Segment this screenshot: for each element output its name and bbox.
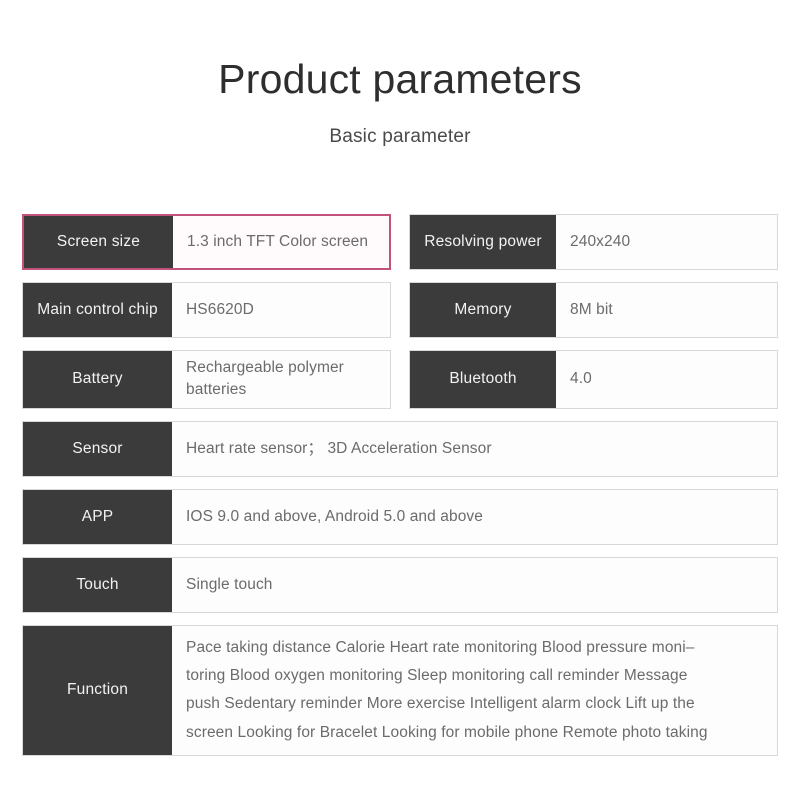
spec-cell-bluetooth: Bluetooth 4.0	[409, 350, 778, 409]
spec-value-line: Heart rate sensor； 3D Acceleration Senso…	[186, 438, 777, 460]
spec-value: 8M bit	[556, 283, 777, 337]
table-row: Main control chip HS6620D Memory 8M bit	[22, 282, 778, 338]
spec-value-line: 4.0	[570, 368, 777, 390]
spec-value: Heart rate sensor； 3D Acceleration Senso…	[172, 422, 777, 476]
spec-value-line: 8M bit	[570, 299, 777, 321]
spec-value-line: 240x240	[570, 231, 777, 253]
spec-value: 240x240	[556, 215, 777, 269]
spec-value-line: screen Looking for Bracelet Looking for …	[186, 719, 777, 747]
product-parameters-page: Product parameters Basic parameter Scree…	[0, 0, 800, 800]
spec-cell-main-control-chip: Main control chip HS6620D	[22, 282, 391, 338]
page-header: Product parameters Basic parameter	[0, 0, 800, 148]
spec-value: Rechargeable polymer batteries	[172, 351, 390, 408]
spec-label: Battery	[23, 351, 172, 408]
table-row: Battery Rechargeable polymer batteries B…	[22, 350, 778, 409]
spec-label: Function	[23, 626, 172, 755]
spec-value-line: push Sedentary reminder More exercise In…	[186, 690, 777, 718]
spec-label: Bluetooth	[410, 351, 556, 408]
table-row: Sensor Heart rate sensor； 3D Acceleratio…	[22, 421, 778, 477]
spec-value: IOS 9.0 and above, Android 5.0 and above	[172, 490, 777, 544]
spec-cell-function: Function Pace taking distance Calorie He…	[22, 625, 778, 756]
table-row: APP IOS 9.0 and above, Android 5.0 and a…	[22, 489, 778, 545]
spec-label: APP	[23, 490, 172, 544]
spec-value-line: toring Blood oxygen monitoring Sleep mon…	[186, 662, 777, 690]
spec-cell-screen-size: Screen size 1.3 inch TFT Color screen	[22, 214, 391, 270]
spec-value: Single touch	[172, 558, 777, 612]
spec-value-line: 1.3 inch TFT Color screen	[187, 231, 389, 253]
spec-cell-resolving-power: Resolving power 240x240	[409, 214, 778, 270]
spec-value-line: batteries	[186, 379, 390, 401]
table-row: Function Pace taking distance Calorie He…	[22, 625, 778, 756]
spec-value: HS6620D	[172, 283, 390, 337]
spec-cell-battery: Battery Rechargeable polymer batteries	[22, 350, 391, 409]
spec-value: 4.0	[556, 351, 777, 408]
spec-value-line: Rechargeable polymer	[186, 357, 390, 379]
spec-value-line: HS6620D	[186, 299, 390, 321]
page-title: Product parameters	[0, 58, 800, 101]
spec-cell-memory: Memory 8M bit	[409, 282, 778, 338]
spec-value-line: Single touch	[186, 574, 777, 596]
spec-label: Screen size	[24, 216, 173, 268]
spec-value: 1.3 inch TFT Color screen	[173, 216, 389, 268]
specification-table: Screen size 1.3 inch TFT Color screen Re…	[22, 214, 778, 756]
spec-cell-app: APP IOS 9.0 and above, Android 5.0 and a…	[22, 489, 778, 545]
spec-value-line: IOS 9.0 and above, Android 5.0 and above	[186, 506, 777, 528]
spec-cell-touch: Touch Single touch	[22, 557, 778, 613]
spec-value-line: Pace taking distance Calorie Heart rate …	[186, 634, 777, 662]
spec-label: Main control chip	[23, 283, 172, 337]
page-subtitle: Basic parameter	[0, 126, 800, 148]
spec-label: Sensor	[23, 422, 172, 476]
spec-cell-sensor: Sensor Heart rate sensor； 3D Acceleratio…	[22, 421, 778, 477]
spec-label: Memory	[410, 283, 556, 337]
table-row: Screen size 1.3 inch TFT Color screen Re…	[22, 214, 778, 270]
spec-value: Pace taking distance Calorie Heart rate …	[172, 626, 777, 755]
table-row: Touch Single touch	[22, 557, 778, 613]
spec-label: Touch	[23, 558, 172, 612]
spec-label: Resolving power	[410, 215, 556, 269]
